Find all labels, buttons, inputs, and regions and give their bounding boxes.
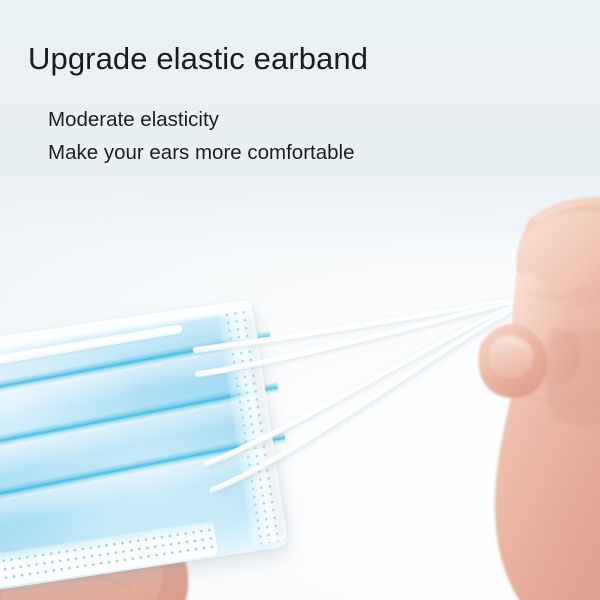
palm-shadow — [545, 318, 600, 426]
feature-list: Moderate elasticity Make your ears more … — [48, 103, 368, 169]
face-mask-icon — [0, 299, 289, 595]
page-title: Upgrade elastic earband — [28, 42, 368, 77]
feature-item: Moderate elasticity — [48, 103, 368, 136]
product-feature-banner: Upgrade elastic earband Moderate elastic… — [0, 0, 600, 600]
mask-body — [0, 299, 289, 595]
pinching-hand-icon — [455, 188, 600, 600]
feature-item: Make your ears more comfortable — [48, 136, 368, 169]
copy-block: Upgrade elastic earband Moderate elastic… — [28, 42, 368, 169]
